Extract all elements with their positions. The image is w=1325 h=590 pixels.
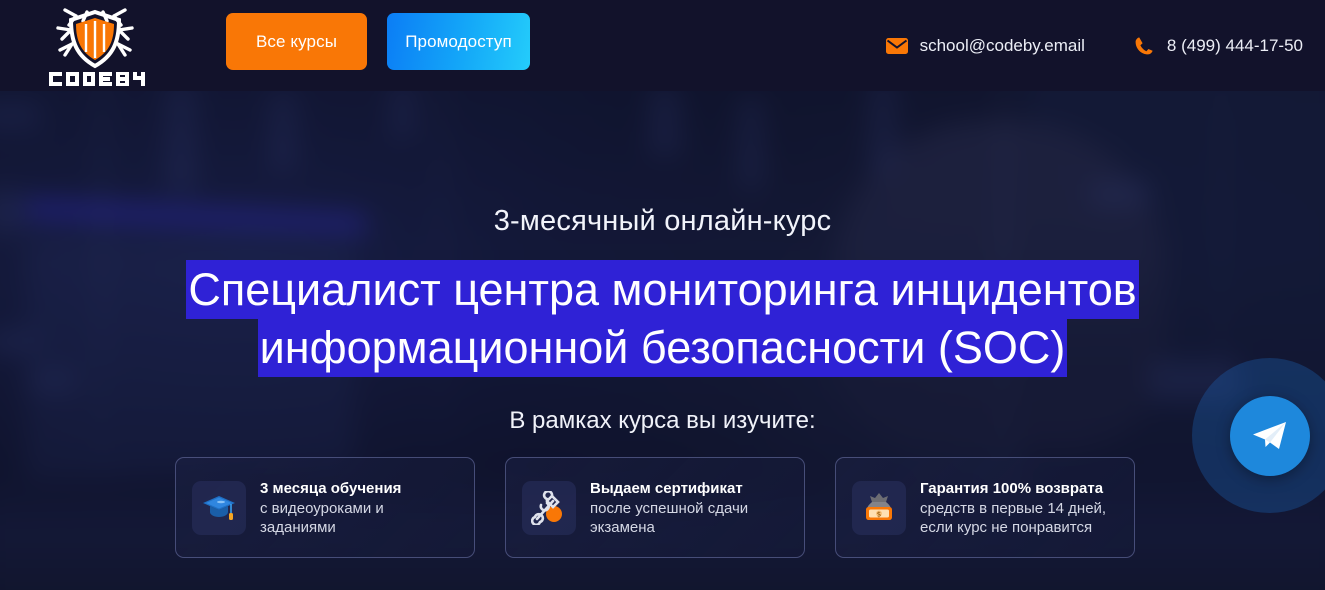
codeby-wordmark bbox=[49, 72, 145, 86]
svg-text:$: $ bbox=[877, 510, 881, 518]
phone-icon bbox=[1133, 35, 1155, 57]
hero-headline-line-2: информационной безопасности (SOC) bbox=[258, 318, 1068, 377]
hero-headline: Специалист центра мониторинга инцидентов… bbox=[0, 261, 1325, 377]
telegram-paper-plane-icon bbox=[1250, 418, 1290, 454]
site-header: Все курсы Промодоступ school@codeby.emai… bbox=[0, 0, 1325, 91]
hero-content: 3-месячный онлайн-курс Специалист центра… bbox=[0, 91, 1325, 590]
hero-eyebrow: 3-месячный онлайн-курс bbox=[0, 205, 1325, 238]
feature-card-desc: с видеоуроками и заданиями bbox=[260, 499, 458, 537]
header-nav-buttons: Все курсы Промодоступ bbox=[226, 13, 530, 70]
telegram-float-widget bbox=[1167, 345, 1325, 525]
envelope-icon bbox=[886, 35, 908, 57]
codeby-spider-shield-logo bbox=[43, 6, 147, 86]
landing-page: Все курсы Промодоступ school@codeby.emai… bbox=[0, 0, 1325, 590]
feature-card-title: Выдаем сертификат bbox=[590, 479, 788, 498]
email-value: school@codeby.email bbox=[920, 36, 1085, 56]
phone-value: 8 (499) 444-17-50 bbox=[1167, 36, 1303, 56]
feature-card-title: 3 месяца обучения bbox=[260, 479, 458, 498]
feature-card-desc: средств в первые 14 дней, если курс не п… bbox=[920, 499, 1118, 537]
certificate-icon bbox=[522, 481, 576, 535]
feature-card-certificate[interactable]: Выдаем сертификат после успешной сдачи э… bbox=[505, 457, 805, 558]
email-contact[interactable]: school@codeby.email bbox=[886, 35, 1085, 57]
feature-card-guarantee[interactable]: $ Гарантия 100% возврата средств в первы… bbox=[835, 457, 1135, 558]
graduation-cap-icon bbox=[192, 481, 246, 535]
hero-subtitle: В рамках курса вы изучите: bbox=[0, 407, 1325, 435]
promo-access-label: Промодоступ bbox=[405, 32, 512, 52]
feature-card-title: Гарантия 100% возврата bbox=[920, 479, 1118, 498]
feature-card-desc: после успешной сдачи экзамена bbox=[590, 499, 788, 537]
money-bag-icon: $ bbox=[852, 481, 906, 535]
codeby-logo[interactable] bbox=[43, 6, 147, 86]
phone-contact[interactable]: 8 (499) 444-17-50 bbox=[1133, 35, 1303, 57]
header-contacts: school@codeby.email 8 (499) 444-17-50 bbox=[886, 0, 1303, 91]
all-courses-label: Все курсы bbox=[256, 32, 337, 52]
feature-cards: 3 месяца обучения с видеоуроками и задан… bbox=[175, 457, 1135, 558]
telegram-button[interactable] bbox=[1230, 396, 1310, 476]
promo-access-button[interactable]: Промодоступ bbox=[387, 13, 530, 70]
feature-card-duration[interactable]: 3 месяца обучения с видеоуроками и задан… bbox=[175, 457, 475, 558]
all-courses-button[interactable]: Все курсы bbox=[226, 13, 367, 70]
hero-headline-line-1: Специалист центра мониторинга инцидентов bbox=[186, 260, 1138, 319]
